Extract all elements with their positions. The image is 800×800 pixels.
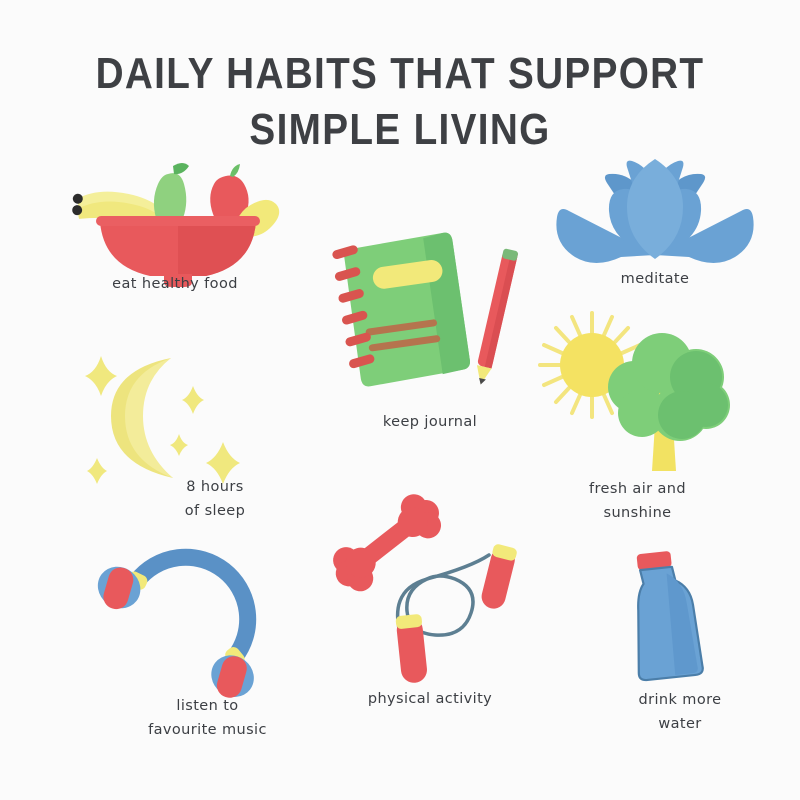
habit-label-fresh-air-and-sunshine: fresh air and sunshine [530,477,745,525]
habit-item-eat-healthy-food: eat healthy food [60,160,290,310]
dumbbell-jump-rope-icon [325,495,535,680]
habit-label-physical-activity: physical activity [325,687,535,711]
habit-label-listen-to-favourite-music: listen to favourite music [95,694,320,742]
habit-item-sleep: 8 hours of sleep [75,350,305,550]
habit-item-drink-more-water: drink more water [585,548,775,758]
habit-label-sleep: 8 hours of sleep [120,475,310,523]
habit-label-keep-journal: keep journal [330,410,530,434]
notebook-pencil-icon [330,228,530,408]
habit-label-drink-more-water: drink more water [585,688,775,736]
habit-item-listen-to-favourite-music: listen to favourite music [95,552,320,757]
infographic-poster: DAILY HABITS THAT SUPPORT SIMPLE LIVING [0,0,800,800]
crescent-moon-stars-icon [75,350,305,485]
habit-label-eat-healthy-food: eat healthy food [60,272,290,296]
habit-label-meditate: meditate [555,267,755,291]
habit-item-meditate: meditate [555,155,755,305]
habit-item-physical-activity: physical activity [325,495,535,725]
habit-item-fresh-air-and-sunshine: fresh air and sunshine [530,305,745,545]
title-line-2: SIMPLE LIVING [48,102,752,158]
sun-tree-icon [530,305,745,485]
water-bottle-icon [585,548,775,683]
fruit-bowl-icon [60,160,290,270]
headphones-icon [95,552,320,687]
habit-item-keep-journal: keep journal [330,228,530,448]
lotus-flower-icon [555,155,755,265]
poster-title: DAILY HABITS THAT SUPPORT SIMPLE LIVING [0,46,800,158]
title-line-1: DAILY HABITS THAT SUPPORT [48,46,752,102]
